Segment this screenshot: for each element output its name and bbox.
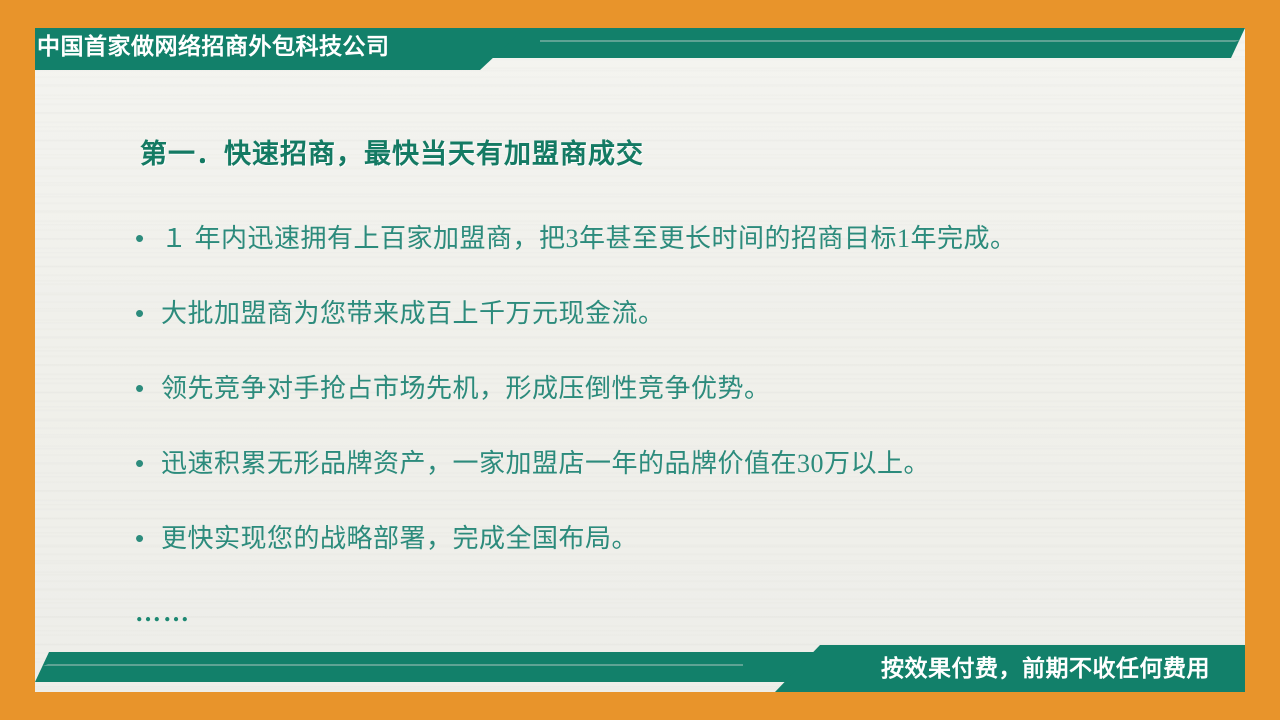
slide-body: 第一．快速招商，最快当天有加盟商成交 • １ 年内迅速拥有上百家加盟商，把3年甚… xyxy=(35,70,1245,630)
slide-footer: 按效果付费，前期不收任何费用 xyxy=(35,645,1245,692)
list-item: • 迅速积累无形品牌资产，一家加盟店一年的品牌价值在30万以上。 xyxy=(135,450,1235,525)
footer-tagline: 按效果付费，前期不收任何费用 xyxy=(881,652,1210,684)
header-title: 中国首家做网络招商外包科技公司 xyxy=(37,28,477,64)
list-item-text: 迅速积累无形品牌资产，一家加盟店一年的品牌价值在30万以上。 xyxy=(161,450,930,479)
section-heading: 第一．快速招商，最快当天有加盟商成交 xyxy=(140,132,644,171)
list-item-text: 领先竞争对手抢占市场先机，形成压倒性竞争优势。 xyxy=(161,375,771,404)
bullet-dot-icon: • xyxy=(135,375,161,401)
bullet-list: • １ 年内迅速拥有上百家加盟商，把3年甚至更长时间的招商目标1年完成。 • 大… xyxy=(135,225,1235,600)
list-item-text: １ 年内迅速拥有上百家加盟商，把3年甚至更长时间的招商目标1年完成。 xyxy=(161,225,1017,254)
footer-hairline xyxy=(43,664,743,666)
list-item: • １ 年内迅速拥有上百家加盟商，把3年甚至更长时间的招商目标1年完成。 xyxy=(135,225,1235,300)
list-item-text: 更快实现您的战略部署，完成全国布局。 xyxy=(161,525,638,554)
footer-tagline-block: 按效果付费，前期不收任何费用 xyxy=(775,645,1245,692)
list-item: • 大批加盟商为您带来成百上千万元现金流。 xyxy=(135,300,1235,375)
list-item: • 领先竞争对手抢占市场先机，形成压倒性竞争优势。 xyxy=(135,375,1235,450)
continuation-ellipsis: …… xyxy=(135,598,191,628)
header-hairline xyxy=(540,40,1240,42)
slide-header: 中国首家做网络招商外包科技公司 xyxy=(35,28,1245,70)
bullet-dot-icon: • xyxy=(135,225,161,251)
list-item: • 更快实现您的战略部署，完成全国布局。 xyxy=(135,525,1235,600)
header-title-block: 中国首家做网络招商外包科技公司 xyxy=(35,28,525,70)
bullet-dot-icon: • xyxy=(135,525,161,551)
bullet-dot-icon: • xyxy=(135,450,161,476)
slide: 中国首家做网络招商外包科技公司 第一．快速招商，最快当天有加盟商成交 • １ 年… xyxy=(0,0,1280,720)
list-item-text: 大批加盟商为您带来成百上千万元现金流。 xyxy=(161,300,665,329)
bullet-dot-icon: • xyxy=(135,300,161,326)
